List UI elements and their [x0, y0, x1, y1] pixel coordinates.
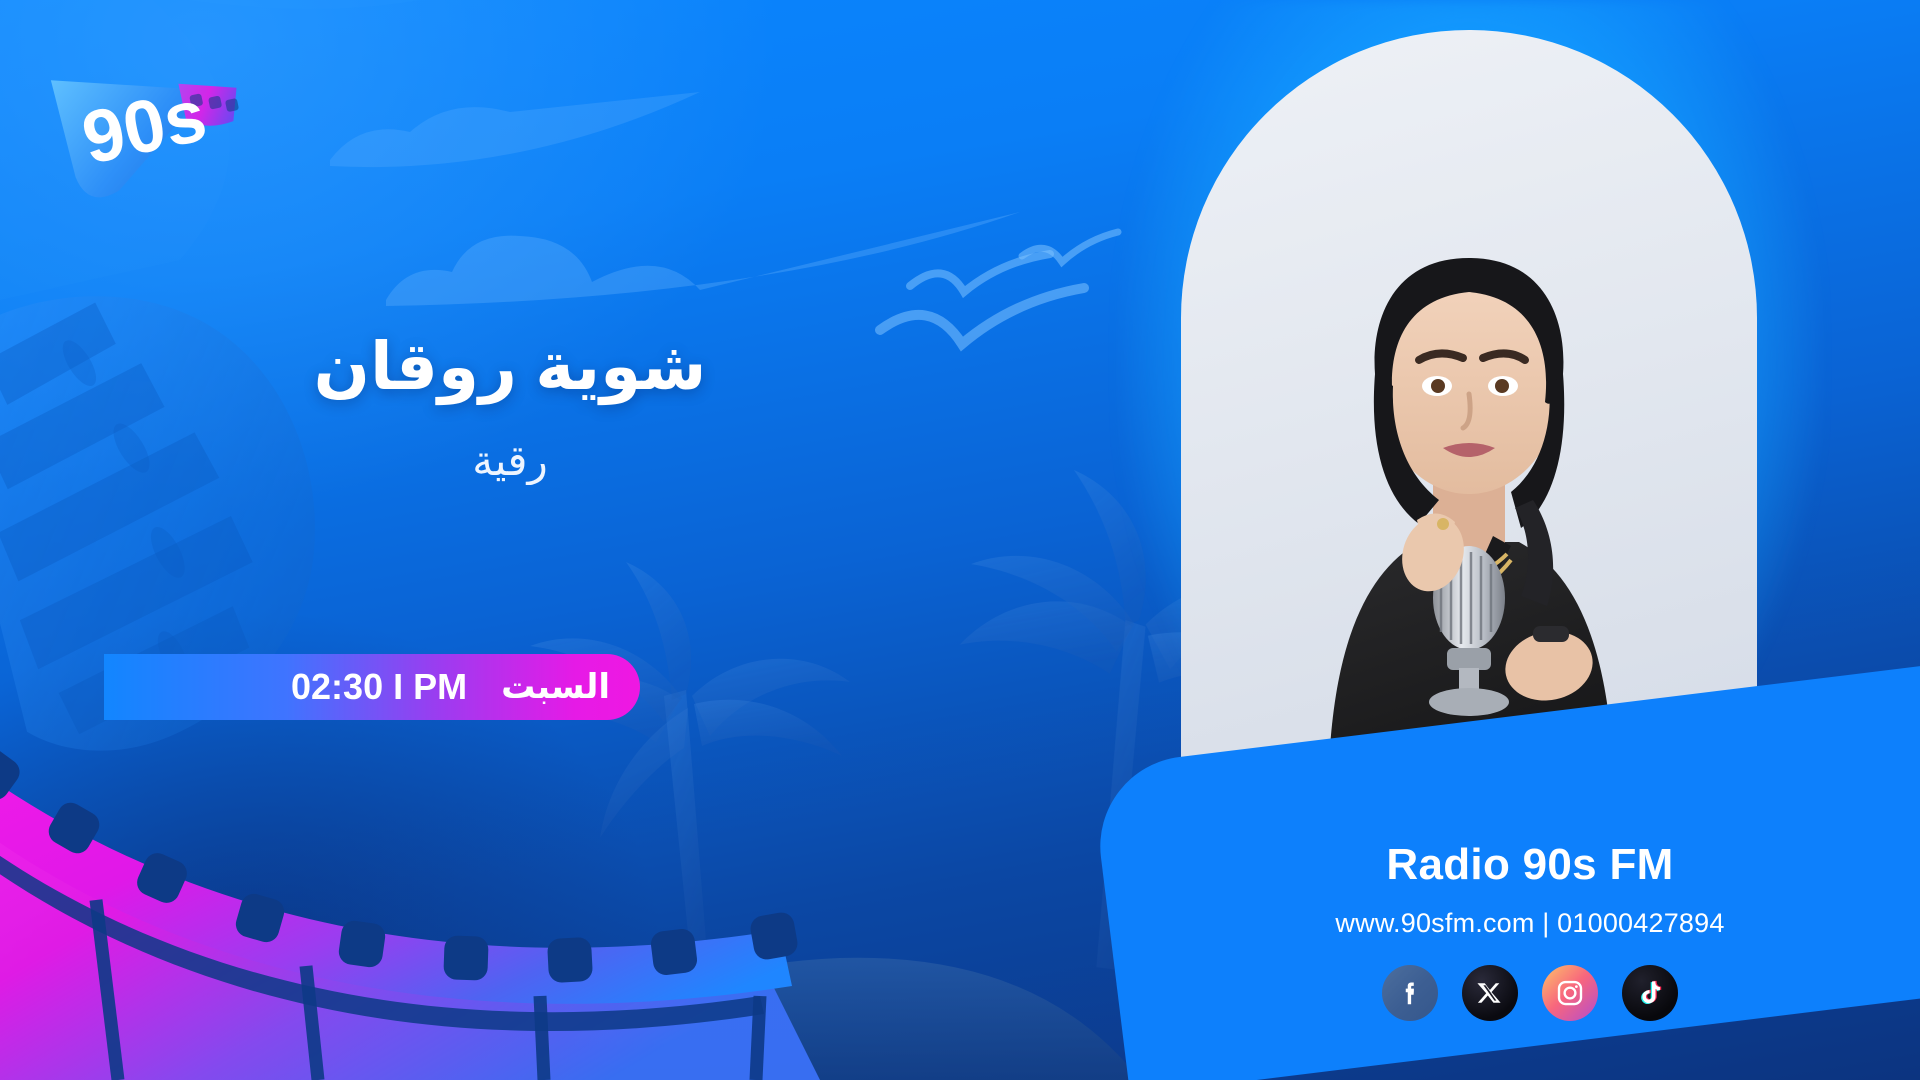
program-title: شوية روقان	[0, 330, 1020, 404]
schedule-badge: السبت 02:30 I PM	[104, 654, 640, 720]
program-host: رقية	[0, 438, 1020, 484]
facebook-icon[interactable]	[1382, 965, 1438, 1021]
bird-silhouettes	[880, 232, 1118, 344]
station-name: Radio 90s FM	[1140, 840, 1920, 890]
brand-content: Radio 90s FM www.90sfm.com | 01000427894	[1140, 840, 1920, 1021]
program-text-block: شوية روقان رقية	[0, 330, 1020, 484]
radio-90s-logo[interactable]: 90s	[36, 44, 251, 204]
social-links	[1140, 965, 1920, 1021]
contact-line: www.90sfm.com | 01000427894	[1140, 908, 1920, 939]
tiktok-icon[interactable]	[1622, 965, 1678, 1021]
schedule-day: السبت	[501, 667, 610, 707]
promo-card: 90s	[0, 0, 1920, 1080]
cloud-silhouettes	[386, 212, 1020, 306]
x-twitter-icon[interactable]	[1462, 965, 1518, 1021]
island-mound-silhouette	[520, 958, 1140, 1080]
film-strip-graphic	[0, 742, 820, 1080]
schedule-time: 02:30 I PM	[291, 666, 467, 708]
instagram-icon[interactable]	[1542, 965, 1598, 1021]
